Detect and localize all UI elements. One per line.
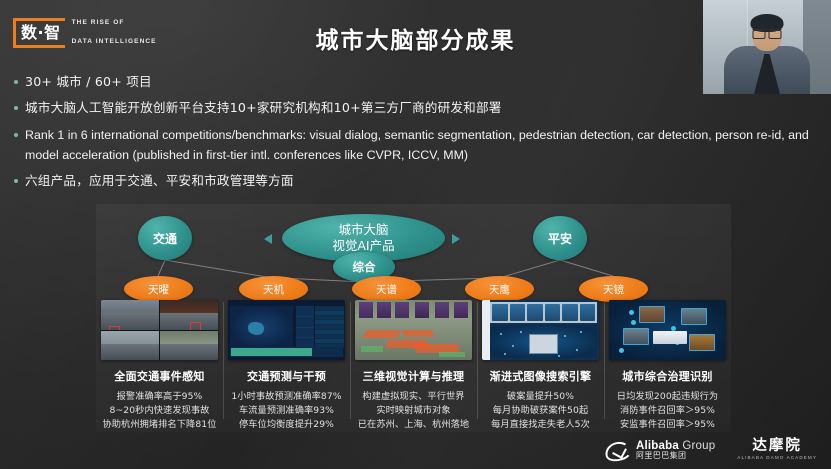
- bullet-list: 30+ 城市 / 60+ 项目 城市大脑人工智能开放创新平台支持10+家研究机构…: [14, 72, 814, 197]
- product-card-metric: 停车位均衡度提升29%: [227, 418, 346, 432]
- footer-logos: Alibaba Group 阿里巴巴集团 达摩院 ALIBABA DAMO AC…: [605, 439, 817, 461]
- traffic-camera-grid-thumbnail[interactable]: [101, 300, 218, 360]
- product-card-metrics: 破案量提升50% 每月协助破获案件50起 每月直接找走失老人5次: [481, 390, 600, 431]
- logo-chinese-text: 数·智: [21, 25, 61, 41]
- product-card-metric: 每月直接找走失老人5次: [481, 418, 600, 432]
- product-card-metric: 协助杭州拥堵排名下降81位: [100, 418, 219, 432]
- product-card-metric: 消防事件召回率＞95%: [608, 404, 727, 418]
- product-card-metrics: 日均发现200起违规行为 消防事件召回率＞95% 安监事件召回率＞95%: [608, 390, 727, 431]
- product-card-metric: 车流量预测准确率93%: [227, 404, 346, 418]
- bullet-text: 六组产品，应用于交通、平安和市政管理等方面: [25, 171, 294, 191]
- arrow-right-icon: [452, 234, 460, 244]
- product-card-metric: 实时映射城市对象: [354, 404, 473, 418]
- diagram-leaf-node-2[interactable]: 天谱: [352, 276, 421, 302]
- bullet-text: 城市大脑人工智能开放创新平台支持10+家研究机构和10+第三方厂商的研发和部署: [25, 98, 502, 118]
- product-card[interactable]: 三维视觉计算与推理 构建虚拟现实、平行世界 实时映射城市对象 已在苏州、上海、杭…: [350, 300, 477, 431]
- product-card[interactable]: 渐进式图像搜索引擎 破案量提升50% 每月协助破获案件50起 每月直接找走失老人…: [477, 300, 604, 431]
- product-card[interactable]: 交通预测与干预 1小时事故预测准确率87% 车流量预测准确率93% 停车位均衡度…: [223, 300, 350, 431]
- damo-chinese-name: 达摩院: [752, 439, 802, 454]
- alibaba-chinese-name: 阿里巴巴集团: [636, 452, 715, 460]
- bullet-text: Rank 1 in 6 international competitions/b…: [25, 125, 814, 165]
- product-card-metrics: 报警准确率高于95% 8~20秒内快速发现事故 协助杭州拥堵排名下降81位: [100, 390, 219, 431]
- product-card-metric: 8~20秒内快速发现事故: [100, 404, 219, 418]
- bullet-item: 城市大脑人工智能开放创新平台支持10+家研究机构和10+第三方厂商的研发和部署: [14, 98, 814, 118]
- product-card[interactable]: 全面交通事件感知 报警准确率高于95% 8~20秒内快速发现事故 协助杭州拥堵排…: [96, 300, 223, 431]
- product-card-title: 三维视觉计算与推理: [354, 368, 473, 384]
- product-card-title: 交通预测与干预: [227, 368, 346, 384]
- bullet-item: Rank 1 in 6 international competitions/b…: [14, 125, 814, 165]
- bullet-dot-icon: [14, 179, 18, 183]
- city-governance-thumbnail[interactable]: [609, 300, 726, 360]
- diagram-leaf-node-0[interactable]: 天曜: [124, 276, 193, 302]
- product-card-metric: 每月协助破获案件50起: [481, 404, 600, 418]
- bullet-item: 30+ 城市 / 60+ 项目: [14, 72, 814, 92]
- center-node-line1: 城市大脑: [332, 222, 394, 239]
- product-card-title: 全面交通事件感知: [100, 368, 219, 384]
- logo-english-text: THE RISE OF DATA INTELLIGENCE: [72, 9, 157, 56]
- product-card-metric: 已在苏州、上海、杭州落地: [354, 418, 473, 432]
- logo-bracket: 数·智: [13, 18, 65, 48]
- diagram-leaf-node-4[interactable]: 天镜: [579, 276, 648, 302]
- product-card-metrics: 1小时事故预测准确率87% 车流量预测准确率93% 停车位均衡度提升29%: [227, 390, 346, 431]
- logo-english-line2: DATA INTELLIGENCE: [72, 37, 157, 46]
- product-card-metric: 构建虚拟现实、平行世界: [354, 390, 473, 404]
- bullet-dot-icon: [14, 80, 18, 84]
- logo-english-line1: THE RISE OF: [72, 18, 157, 27]
- traffic-dashboard-thumbnail[interactable]: [228, 300, 345, 360]
- alibaba-mark-icon: [605, 441, 631, 459]
- image-search-engine-thumbnail[interactable]: [482, 300, 599, 360]
- damo-academy-logo: 达摩院 ALIBABA DAMO ACADEMY: [737, 439, 817, 461]
- three-d-vision-thumbnail[interactable]: [355, 300, 472, 360]
- bullet-text: 30+ 城市 / 60+ 项目: [25, 72, 152, 92]
- diagram-node-safety[interactable]: 平安: [533, 216, 587, 260]
- alibaba-english-name: Alibaba Group: [636, 440, 715, 452]
- bullet-item: 六组产品，应用于交通、平安和市政管理等方面: [14, 171, 814, 191]
- presentation-slide: 数·智 THE RISE OF DATA INTELLIGENCE 城市大脑部分…: [0, 0, 831, 469]
- bullet-dot-icon: [14, 133, 18, 137]
- speaker-video-tile[interactable]: [703, 0, 831, 94]
- product-card-metric: 报警准确率高于95%: [100, 390, 219, 404]
- product-card-title: 渐进式图像搜索引擎: [481, 368, 600, 384]
- brand-logo: 数·智 THE RISE OF DATA INTELLIGENCE: [8, 6, 163, 59]
- product-card-metric: 破案量提升50%: [481, 390, 600, 404]
- diagram-node-traffic[interactable]: 交通: [138, 216, 192, 260]
- product-card-metric: 安监事件召回率＞95%: [608, 418, 727, 432]
- product-card-metrics: 构建虚拟现实、平行世界 实时映射城市对象 已在苏州、上海、杭州落地: [354, 390, 473, 431]
- speaker-glasses: [753, 29, 782, 38]
- product-card-row: 全面交通事件感知 报警准确率高于95% 8~20秒内快速发现事故 协助杭州拥堵排…: [96, 300, 731, 431]
- diagram-leaf-node-3[interactable]: 天鹰: [465, 276, 534, 302]
- diagram-leaf-node-1[interactable]: 天机: [239, 276, 308, 302]
- product-card-metric: 1小时事故预测准确率87%: [227, 390, 346, 404]
- product-card[interactable]: 城市综合治理识别 日均发现200起违规行为 消防事件召回率＞95% 安监事件召回…: [604, 300, 731, 431]
- arrow-left-icon: [264, 234, 272, 244]
- bullet-dot-icon: [14, 106, 18, 110]
- product-card-title: 城市综合治理识别: [608, 368, 727, 384]
- alibaba-group-logo: Alibaba Group 阿里巴巴集团: [605, 440, 715, 460]
- damo-english-name: ALIBABA DAMO ACADEMY: [737, 456, 817, 461]
- product-card-metric: 日均发现200起违规行为: [608, 390, 727, 404]
